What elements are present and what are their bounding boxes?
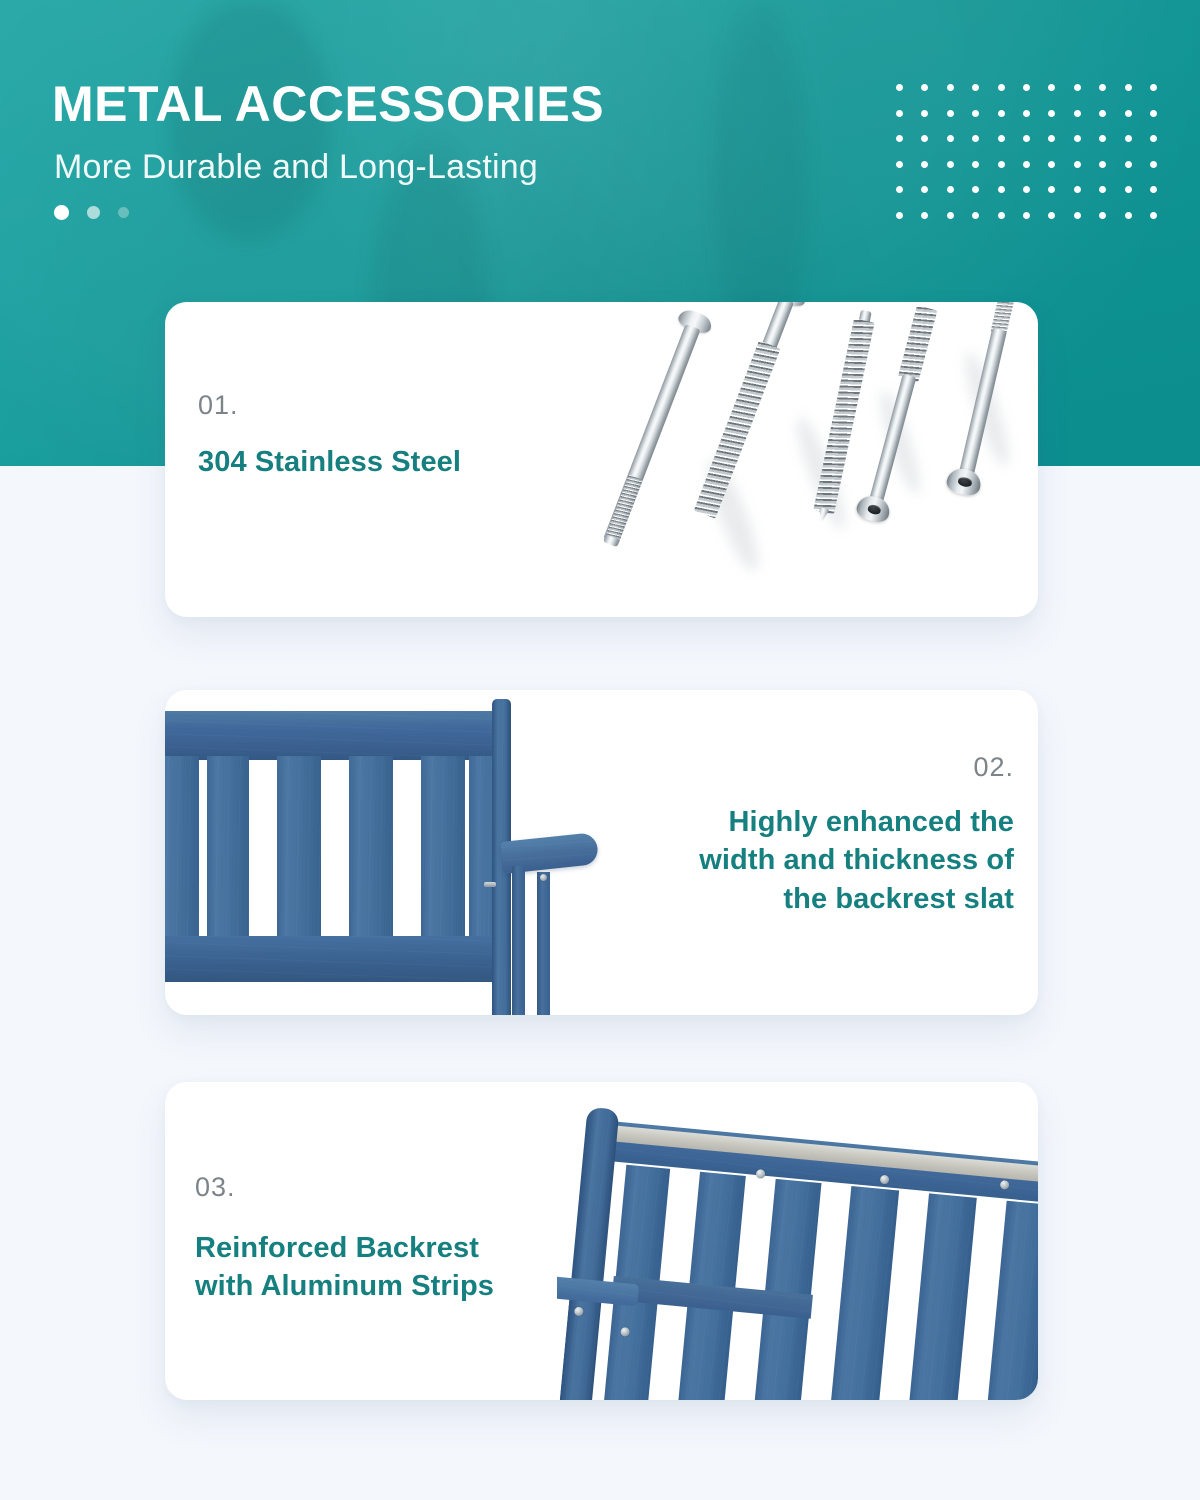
grid-dot [972, 186, 979, 193]
grid-dot [896, 135, 903, 142]
grid-dot [1150, 186, 1157, 193]
grid-dot [1150, 84, 1157, 91]
grid-dot [972, 84, 979, 91]
grid-dot [1023, 186, 1030, 193]
grid-dot [1023, 212, 1030, 219]
bench-aluminum-strip-image [557, 1082, 1038, 1400]
grid-dot [1125, 135, 1132, 142]
grid-dot [998, 110, 1005, 117]
grid-dot [998, 212, 1005, 219]
grid-dot [1125, 84, 1132, 91]
grid-dot [1150, 110, 1157, 117]
feature-card-2-text: 02. Highly enhanced the width and thickn… [699, 752, 1014, 918]
bench-slat [349, 756, 393, 940]
grid-dot [1150, 135, 1157, 142]
bench-slat [982, 1201, 1038, 1400]
bench-armrest-leg [512, 866, 525, 1015]
grid-dot [921, 84, 928, 91]
grid-dot [896, 186, 903, 193]
grid-dot [921, 212, 928, 219]
bench-slat [277, 756, 321, 940]
grid-dot [1125, 186, 1132, 193]
pagination-dot-3[interactable] [118, 207, 129, 218]
grid-dot [972, 135, 979, 142]
page-subtitle: More Durable and Long-Lasting [54, 147, 538, 188]
pagination-dots[interactable] [54, 205, 129, 220]
grid-dot [1150, 161, 1157, 168]
grid-dot [1099, 84, 1106, 91]
grid-dot [1048, 110, 1055, 117]
grid-dot [1023, 161, 1030, 168]
grid-dot [1125, 161, 1132, 168]
grid-dot [1099, 161, 1106, 168]
grid-dot [1125, 212, 1132, 219]
feature-card-2-heading: Highly enhanced the width and thickness … [699, 803, 1014, 918]
grid-dot [998, 161, 1005, 168]
bench-armrest-leg [537, 872, 550, 1015]
grid-dot [1048, 212, 1055, 219]
grid-dot [998, 186, 1005, 193]
bench-slat [421, 756, 465, 940]
grid-dot [921, 161, 928, 168]
feature-card-2-number: 02. [699, 752, 1014, 783]
grid-dot [896, 110, 903, 117]
grid-dot [947, 161, 954, 168]
stainless-steel-screws-image [635, 302, 1038, 617]
grid-dot [1099, 135, 1106, 142]
grid-dot [972, 110, 979, 117]
bench-slat [165, 756, 199, 940]
bench-armrest-screw [540, 874, 547, 881]
page-title: METAL ACCESSORIES [52, 78, 604, 131]
grid-dot [1048, 186, 1055, 193]
pagination-dot-2[interactable] [87, 206, 100, 219]
feature-card-3-text: 03. Reinforced Backrest with Aluminum St… [195, 1172, 494, 1306]
grid-dot [1125, 110, 1132, 117]
bench-rail-screw [756, 1169, 766, 1179]
grid-dot [1099, 186, 1106, 193]
grid-dot [1074, 161, 1081, 168]
grid-dot [1074, 135, 1081, 142]
grid-dot [896, 212, 903, 219]
grid-dot [921, 186, 928, 193]
grid-dot [998, 84, 1005, 91]
bench-bottom-rail [165, 936, 509, 982]
grid-dot [896, 161, 903, 168]
bench-slat [905, 1193, 977, 1400]
grid-dot [1099, 110, 1106, 117]
feature-card-1-heading: 304 Stainless Steel [198, 443, 461, 481]
feature-card-3-heading: Reinforced Backrest with Aluminum Strips [195, 1229, 494, 1306]
bench-slat [207, 756, 249, 940]
grid-dot [1023, 135, 1030, 142]
feature-card-3-number: 03. [195, 1172, 494, 1203]
grid-dot [1074, 110, 1081, 117]
grid-dot [972, 161, 979, 168]
grid-dot [1023, 110, 1030, 117]
grid-dot [1074, 212, 1081, 219]
feature-card-1: 01. 304 Stainless Steel [165, 302, 1038, 617]
grid-dot [947, 110, 954, 117]
grid-dot [1048, 135, 1055, 142]
grid-dot [1099, 212, 1106, 219]
grid-dot [947, 212, 954, 219]
bench-slat [827, 1186, 899, 1400]
grid-dot [947, 135, 954, 142]
grid-dot [1048, 84, 1055, 91]
grid-dot [1074, 186, 1081, 193]
grid-dot [1074, 84, 1081, 91]
grid-dot [947, 84, 954, 91]
grid-dot [947, 186, 954, 193]
feature-card-1-number: 01. [198, 390, 461, 421]
grid-dot [1150, 212, 1157, 219]
grid-dot [921, 135, 928, 142]
grid-dot [896, 84, 903, 91]
bench-backrest-slats-image [165, 690, 625, 1015]
feature-card-3: 03. Reinforced Backrest with Aluminum St… [165, 1082, 1038, 1400]
grid-dot [998, 135, 1005, 142]
grid-dot [921, 110, 928, 117]
grid-dot [1048, 161, 1055, 168]
grid-dot [1023, 84, 1030, 91]
decorative-dot-grid [896, 84, 1175, 238]
feature-card-2: 02. Highly enhanced the width and thickn… [165, 690, 1038, 1015]
bench-post-bolt [484, 882, 496, 887]
grid-dot [972, 212, 979, 219]
bench-top-rail [165, 711, 509, 760]
pagination-dot-1[interactable] [54, 205, 69, 220]
feature-card-1-text: 01. 304 Stainless Steel [198, 390, 461, 481]
